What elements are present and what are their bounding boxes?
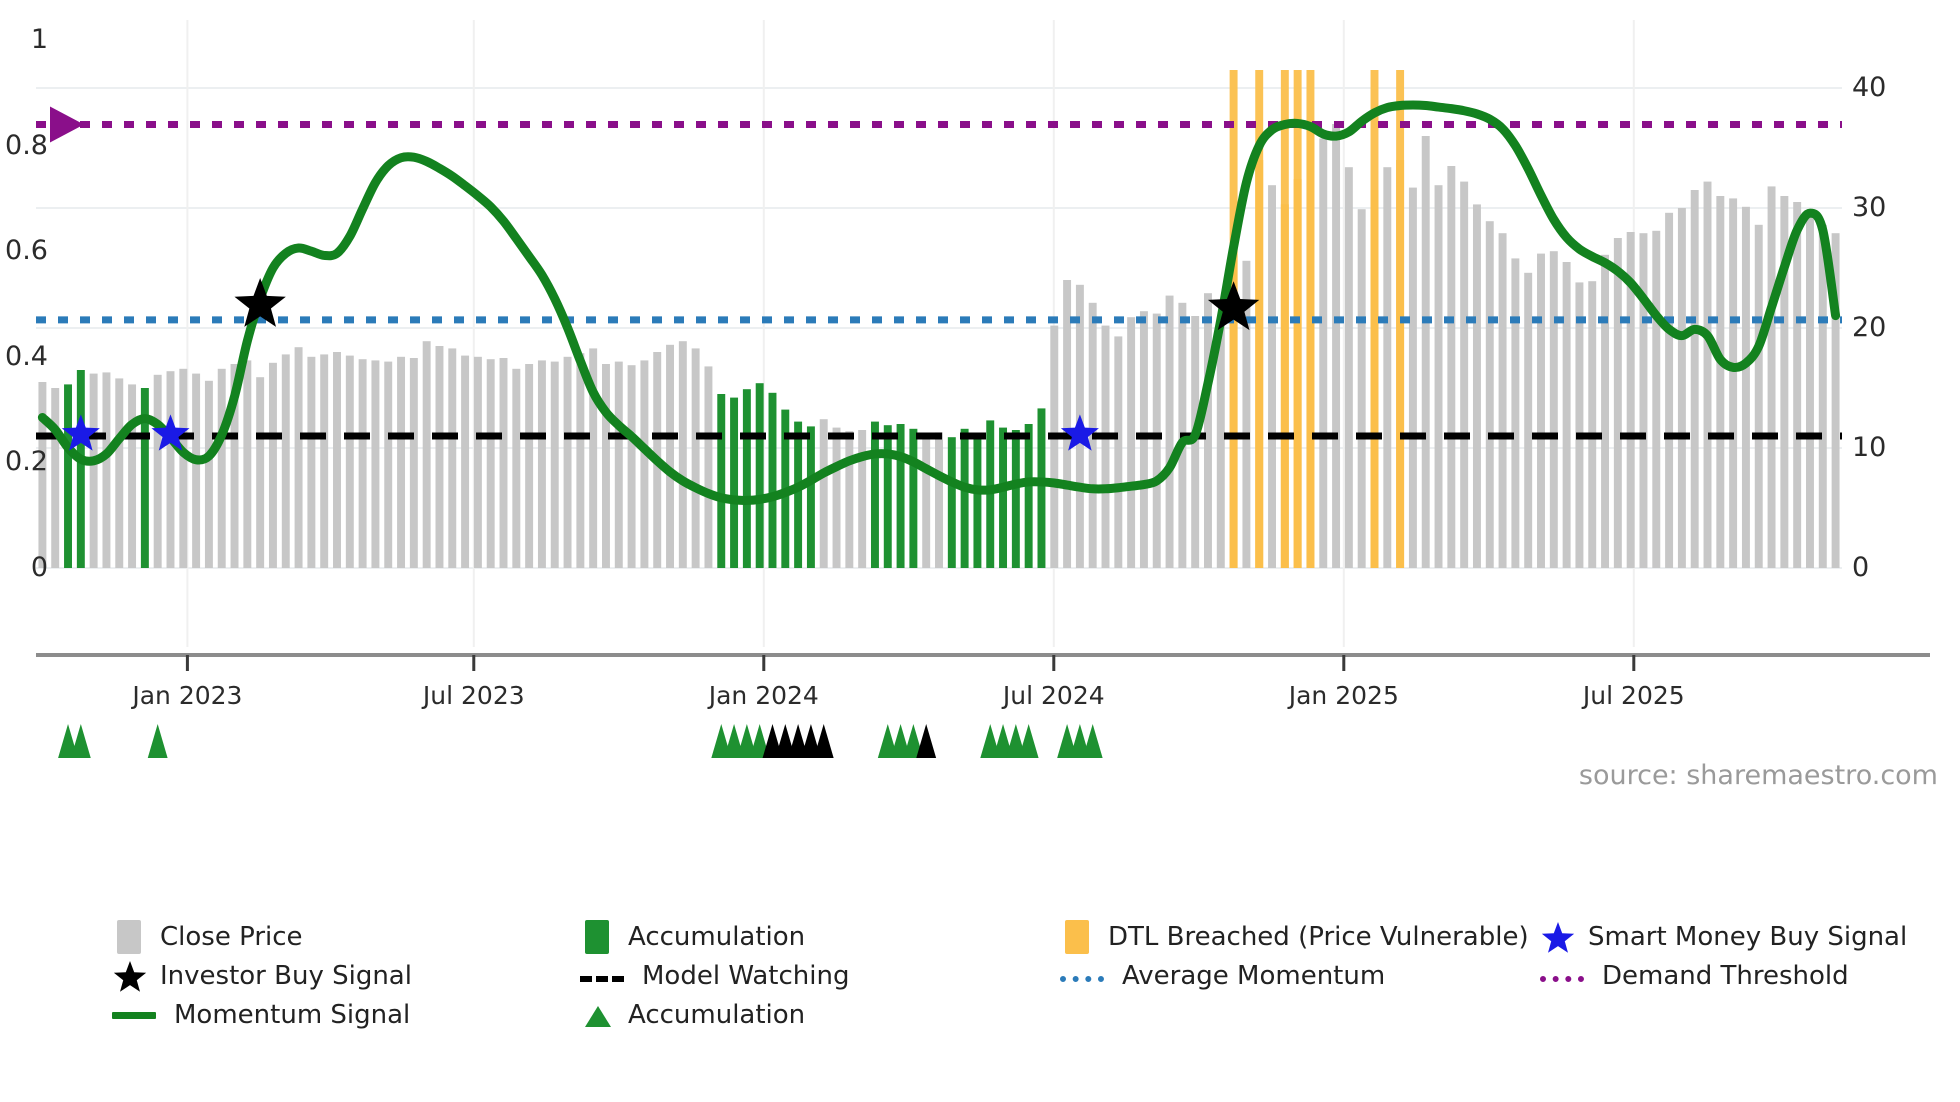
bar-close-price (179, 369, 187, 568)
bar-close-price (1755, 225, 1763, 568)
bar-close-price (1422, 136, 1430, 568)
bar-close-price (359, 359, 367, 568)
triangle-icon (580, 998, 616, 1034)
legend-swatch-dotted-line-icon (1060, 959, 1108, 993)
x-axis-tick-label: Jan 2023 (132, 683, 242, 708)
bar-close-price (1332, 124, 1340, 568)
legend-model-watching[interactable]: Model Watching (580, 959, 849, 993)
accumulation-triangle-marker (814, 724, 834, 758)
bar-dtl-breached-value (1306, 125, 1314, 568)
source-attribution: source: sharemaestro.com (1579, 760, 1938, 791)
y-axis-left-tick: 0.4 (5, 343, 48, 370)
bar-close-price (935, 432, 943, 568)
line-icon (112, 1012, 156, 1019)
y-axis-right-tick: 10 (1852, 434, 1886, 461)
bar-close-price (1678, 208, 1686, 568)
bar-close-price (1383, 167, 1391, 568)
bar-accumulation (948, 437, 956, 568)
bar-close-price (1563, 262, 1571, 568)
bar-close-price (512, 369, 520, 568)
accumulation-triangle-marker (148, 724, 168, 758)
bar-close-price (1268, 185, 1276, 568)
bar-close-price (576, 353, 584, 568)
bar-close-price (51, 388, 59, 568)
bar-close-price (692, 348, 700, 568)
bar-close-price (1588, 281, 1596, 568)
bar-close-price (1409, 188, 1417, 568)
x-axis-tick-label: Jul 2023 (423, 683, 525, 708)
legend-swatch-square-icon (112, 920, 146, 954)
accumulation-triangle-marker (916, 724, 936, 758)
bar-close-price (1716, 196, 1724, 568)
bar-close-price (564, 357, 572, 568)
bar-close-price (346, 356, 354, 568)
bar-close-price (154, 375, 162, 568)
x-axis-tick-label: Jul 2024 (1003, 683, 1105, 708)
y-axis-right-tick: 40 (1852, 74, 1886, 101)
bar-close-price (628, 365, 636, 568)
bar-close-price (1768, 186, 1776, 568)
bar-close-price (1537, 254, 1545, 568)
bar-close-price (1601, 255, 1609, 568)
bar-close-price (845, 431, 853, 568)
bar-close-price (1499, 233, 1507, 568)
bar-close-price (1575, 282, 1583, 568)
bar-close-price (167, 371, 175, 568)
bar-close-price (1691, 190, 1699, 568)
bar-close-price (423, 341, 431, 568)
x-axis-tick-label: Jan 2024 (709, 683, 819, 708)
bar-accumulation (999, 428, 1007, 568)
bar-close-price (474, 357, 482, 568)
bar-close-price (1639, 233, 1647, 568)
bar-close-price (833, 428, 841, 568)
legend-swatch-dashed-line-icon (580, 959, 628, 993)
bar-accumulation (909, 429, 917, 568)
legend-swatch-dotted-line-icon (1540, 959, 1588, 993)
bar-accumulation (756, 383, 764, 568)
bar-close-price (1127, 317, 1135, 568)
accumulation-triangle-marker (1083, 724, 1103, 758)
legend-item-label: Accumulation (628, 924, 805, 950)
legend-demand-threshold[interactable]: Demand Threshold (1540, 959, 1849, 993)
legend-momentum-signal[interactable]: Momentum Signal (112, 998, 410, 1032)
bar-accumulation (1025, 424, 1033, 568)
bar-close-price (1511, 258, 1519, 568)
bar-close-price (1729, 198, 1737, 568)
legend-investor-buy-signal[interactable]: Investor Buy Signal (112, 959, 412, 993)
bar-accumulation (1012, 430, 1020, 568)
bar-close-price (115, 378, 123, 568)
bar-close-price (1524, 273, 1532, 568)
y-axis-left-tick: 0 (31, 554, 48, 581)
bar-close-price (1166, 296, 1174, 568)
bar-close-price (1345, 167, 1353, 568)
legend-accumulation-bar[interactable]: Accumulation (580, 920, 805, 954)
bar-close-price (615, 362, 623, 568)
legend-item-label: Investor Buy Signal (160, 963, 412, 989)
bar-accumulation (77, 370, 85, 568)
bar-close-price (1358, 209, 1366, 568)
legend-swatch-line-icon (112, 998, 160, 1032)
bar-dtl-breached-value (1281, 204, 1289, 568)
dotted-line-icon (1060, 976, 1104, 982)
x-axis-tick-label: Jul 2025 (1583, 683, 1685, 708)
bar-close-price (1447, 166, 1455, 568)
bar-accumulation (743, 389, 751, 568)
bar-close-price (282, 354, 290, 568)
legend-item-label: Momentum Signal (174, 1002, 410, 1028)
y-axis-left-tick: 0.2 (5, 448, 48, 475)
bar-accumulation (807, 426, 815, 568)
bar-dtl-breached-value (1294, 179, 1302, 568)
legend-dtl-breached[interactable]: DTL Breached (Price Vulnerable) (1060, 920, 1529, 954)
chart-legend: Close PriceAccumulationDTL Breached (Pri… (0, 920, 1960, 1080)
bar-dtl-breached-value (1255, 160, 1263, 568)
star-icon (112, 959, 148, 995)
bar-close-price (1460, 182, 1468, 568)
x-axis-tick-label: Jan 2025 (1289, 683, 1399, 708)
bar-close-price (461, 356, 469, 568)
bar-close-price (704, 366, 712, 568)
bar-close-price (1435, 185, 1443, 568)
bar-accumulation (973, 434, 981, 568)
bar-close-price (551, 362, 559, 568)
bar-close-price (333, 352, 341, 568)
bar-close-price (256, 377, 264, 568)
bar-accumulation (794, 422, 802, 568)
legend-item-label: DTL Breached (Price Vulnerable) (1108, 924, 1529, 950)
legend-item-label: Average Momentum (1122, 963, 1385, 989)
bar-close-price (679, 341, 687, 568)
bar-close-price (1102, 326, 1110, 568)
bar-close-price (602, 364, 610, 568)
bar-close-price (205, 381, 213, 568)
bar-close-price (1050, 326, 1058, 568)
bar-accumulation (1037, 408, 1045, 568)
accumulation-triangle-marker (1019, 724, 1039, 758)
bar-close-price (1114, 336, 1122, 568)
demand-threshold-start-marker (50, 106, 84, 142)
bar-close-price (525, 364, 533, 568)
bar-accumulation (64, 384, 72, 568)
bar-close-price (307, 357, 315, 568)
bar-close-price (295, 347, 303, 568)
bar-close-price (90, 374, 98, 568)
bar-close-price (1319, 138, 1327, 568)
bar-close-price (448, 348, 456, 568)
bar-close-price (1486, 221, 1494, 568)
bar-close-price (1153, 314, 1161, 568)
bar-close-price (820, 419, 828, 568)
square-icon (117, 920, 141, 954)
bar-close-price (1614, 238, 1622, 568)
legend-item-label: Model Watching (642, 963, 849, 989)
dashed-line-icon (580, 976, 624, 982)
legend-swatch-triangle-icon (580, 998, 614, 1032)
bar-close-price (128, 384, 136, 568)
momentum-accumulation-chart: 10.80.60.40.20403020100Jan 2023Jul 2023J… (0, 0, 1960, 1102)
y-axis-left-tick: 0.6 (5, 237, 48, 264)
legend-close-price[interactable]: Close Price (112, 920, 303, 954)
star-icon (1540, 920, 1576, 956)
bar-close-price (1704, 182, 1712, 568)
legend-average-momentum[interactable]: Average Momentum (1060, 959, 1385, 993)
y-axis-right-tick: 20 (1852, 314, 1886, 341)
bar-close-price (640, 360, 648, 568)
y-axis-left-tick: 0.8 (5, 132, 48, 159)
bar-accumulation (884, 425, 892, 568)
bar-close-price (487, 359, 495, 568)
bar-close-price (243, 360, 251, 568)
bar-dtl-breached-value (1371, 190, 1379, 568)
bar-close-price (538, 360, 546, 568)
dotted-line-icon (1540, 976, 1584, 982)
legend-item-label: Close Price (160, 924, 303, 950)
legend-swatch-square-icon (580, 920, 614, 954)
bar-close-price (1140, 311, 1148, 568)
y-axis-left-tick: 1 (31, 26, 48, 53)
bar-dtl-breached-value (1396, 160, 1404, 568)
bar-close-price (384, 362, 392, 568)
legend-swatch-star-icon (1540, 920, 1574, 954)
bar-close-price (1063, 280, 1071, 568)
bar-close-price (666, 345, 674, 568)
bar-close-price (1550, 251, 1558, 568)
bar-close-price (320, 354, 328, 568)
bar-accumulation (897, 424, 905, 568)
bar-close-price (1806, 218, 1814, 568)
bar-close-price (435, 346, 443, 568)
bar-accumulation (871, 422, 879, 568)
legend-item-label: Smart Money Buy Signal (1588, 924, 1907, 950)
y-axis-right-tick: 30 (1852, 194, 1886, 221)
bar-close-price (102, 372, 110, 568)
legend-swatch-star-icon (112, 959, 146, 993)
legend-swatch-square-icon (1060, 920, 1094, 954)
legend-item-label: Demand Threshold (1602, 963, 1849, 989)
bar-close-price (1819, 225, 1827, 568)
bar-close-price (269, 363, 277, 568)
legend-accumulation-triangle[interactable]: Accumulation (580, 998, 805, 1032)
bar-close-price (1742, 207, 1750, 568)
bar-close-price (1473, 204, 1481, 568)
bar-close-price (218, 369, 226, 568)
bar-accumulation (961, 429, 969, 568)
bar-accumulation (717, 394, 725, 568)
bar-close-price (858, 430, 866, 568)
y-axis-right-tick: 0 (1852, 554, 1869, 581)
bar-close-price (1652, 231, 1660, 568)
bar-close-price (1204, 293, 1212, 568)
bar-close-price (922, 436, 930, 568)
bar-close-price (410, 358, 418, 568)
square-icon (1065, 920, 1089, 954)
legend-smart-money-buy-signal[interactable]: Smart Money Buy Signal (1540, 920, 1907, 954)
square-icon (585, 920, 609, 954)
bar-close-price (1665, 213, 1673, 568)
accumulation-triangle-marker (71, 724, 91, 758)
legend-item-label: Accumulation (628, 1002, 805, 1028)
bar-accumulation (769, 393, 777, 568)
bar-close-price (1793, 202, 1801, 568)
bar-close-price (500, 358, 508, 568)
bar-close-price (397, 357, 405, 568)
bar-close-price (371, 360, 379, 568)
bar-close-price (192, 374, 200, 568)
bar-accumulation (730, 398, 738, 568)
